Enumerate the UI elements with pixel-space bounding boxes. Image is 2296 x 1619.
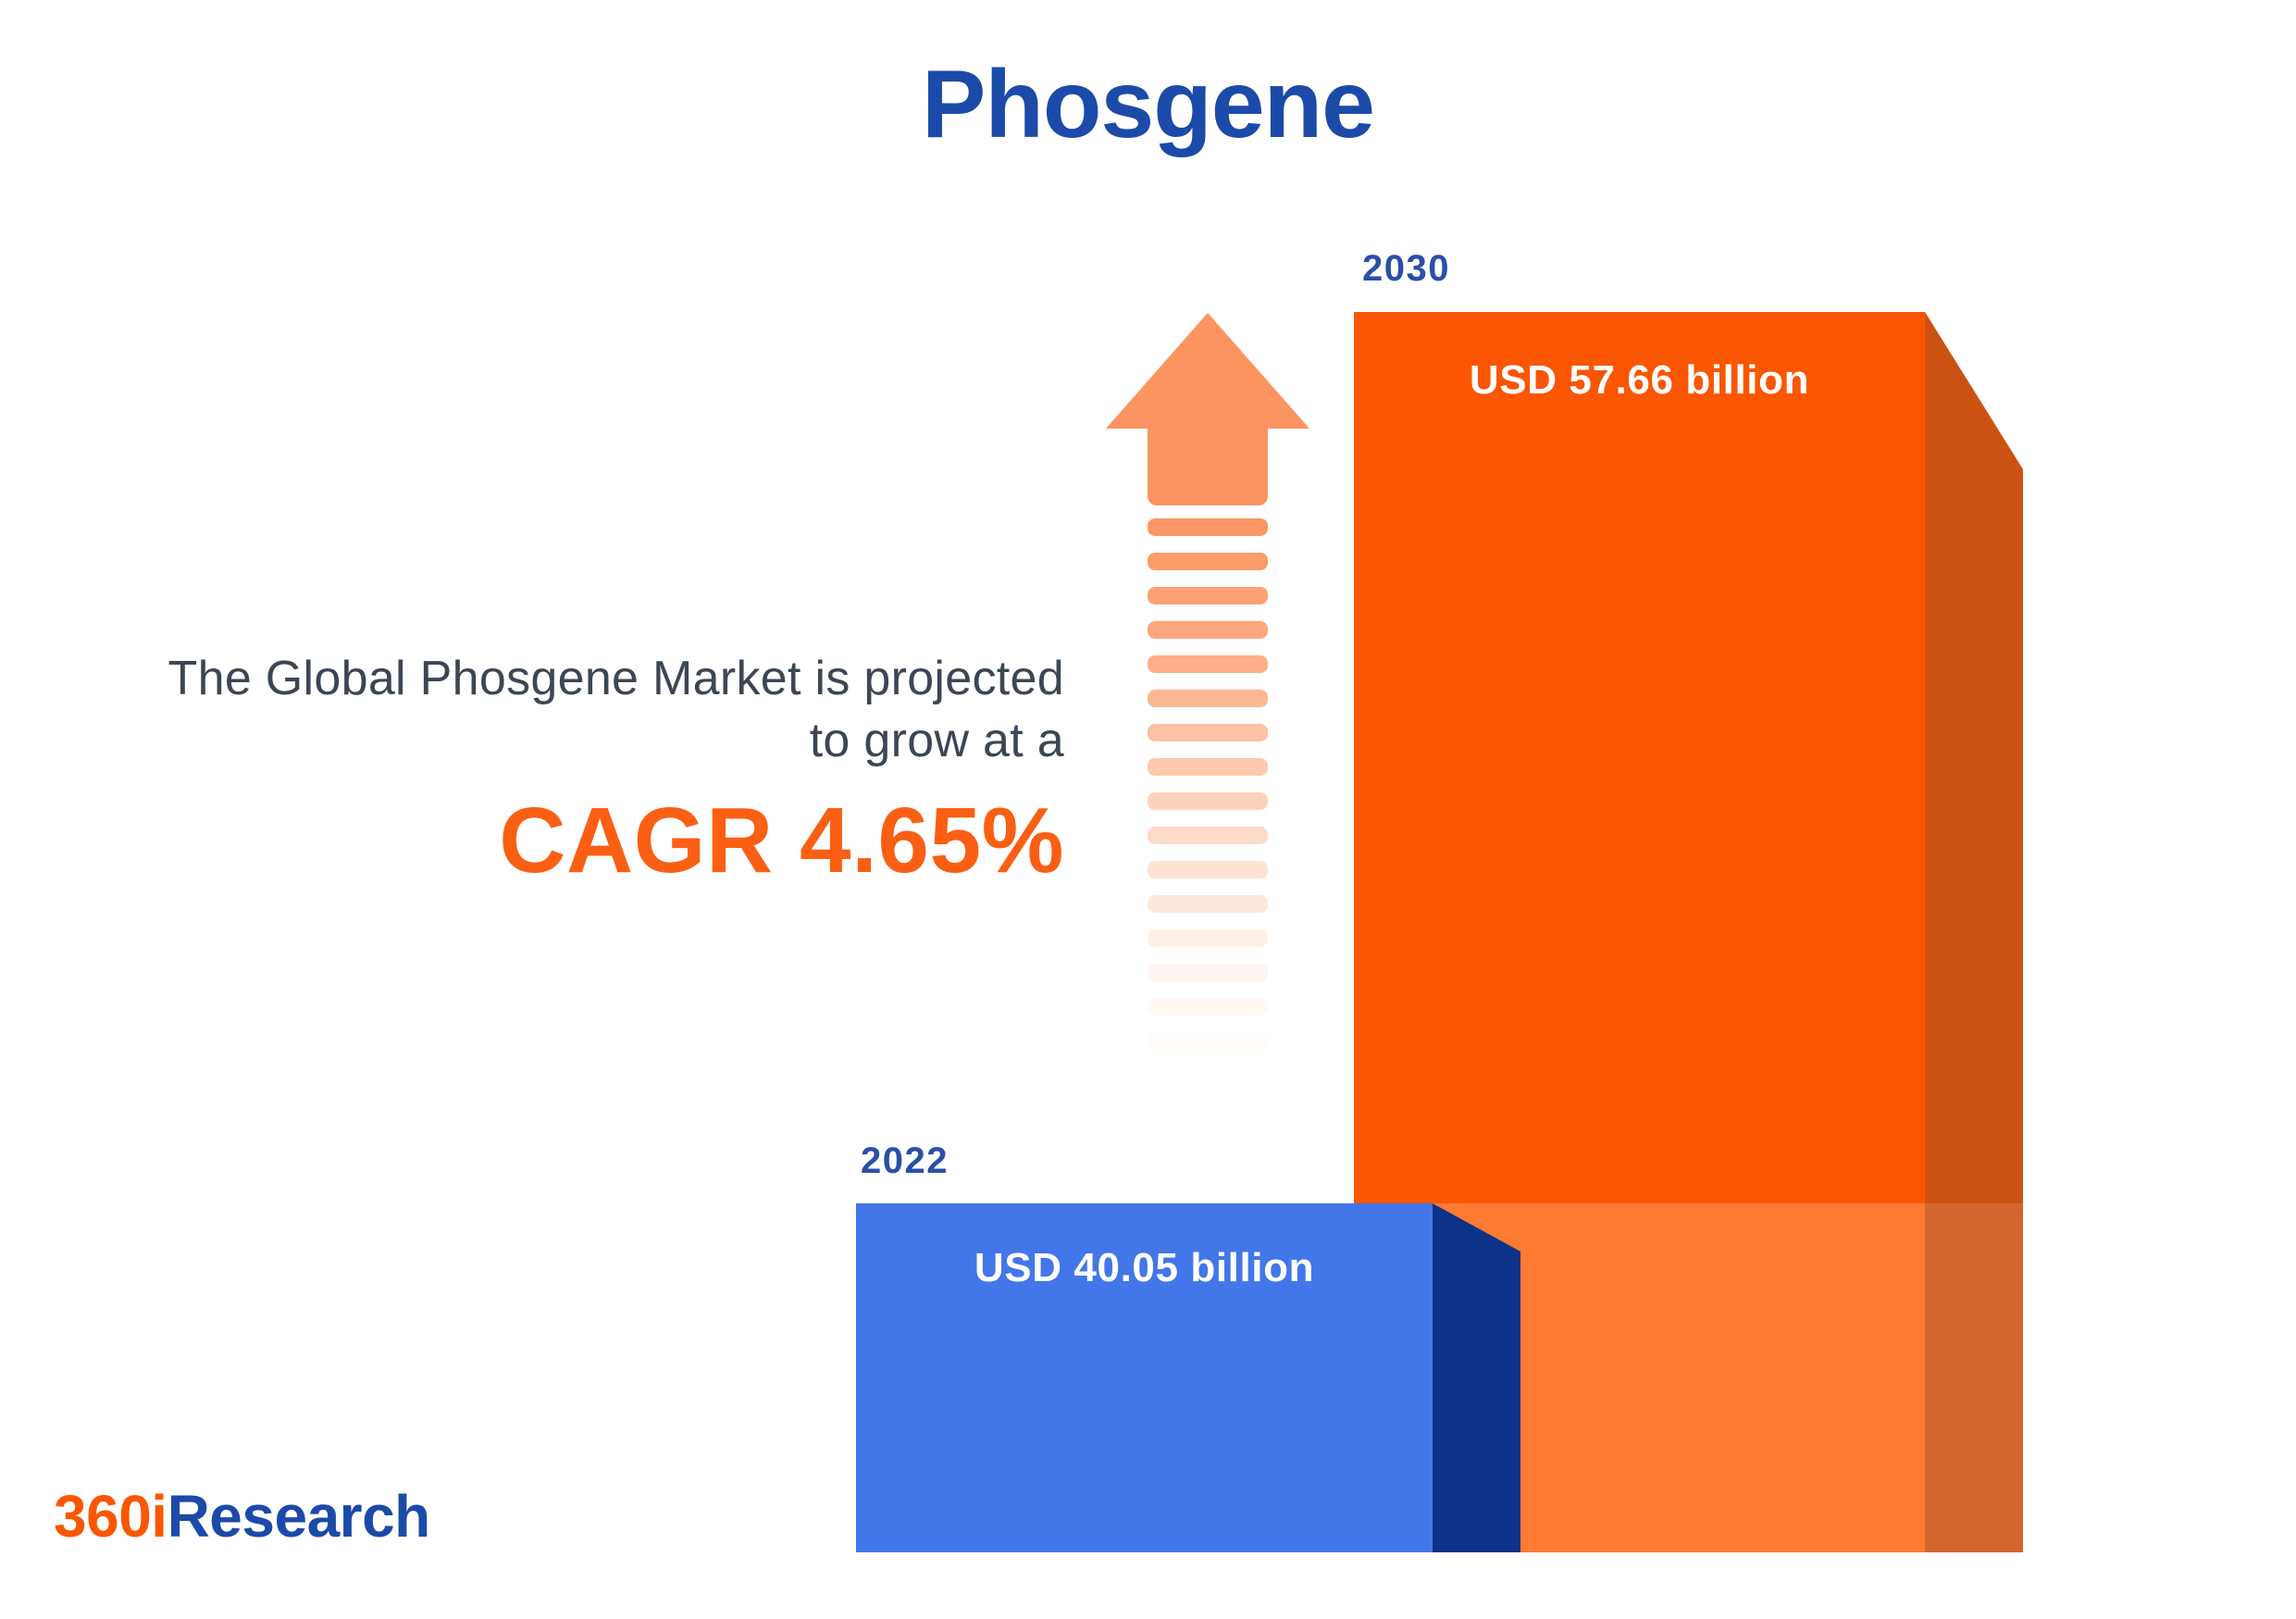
arrow-trail-bar [1148, 621, 1268, 639]
arrow-trail-bars [1148, 518, 1268, 1066]
infographic-canvas: Phosgene The Global Phosgene Market is p… [0, 0, 2296, 1619]
arrow-trail-bar [1148, 518, 1268, 536]
arrow-trail-bar [1148, 895, 1268, 913]
cagr-value: CAGR 4.65% [28, 790, 1064, 891]
arrow-trail-bar [1148, 964, 1268, 981]
bar-2022-side-face [1433, 1203, 1520, 1552]
arrow-head-shape [1106, 313, 1309, 429]
value-label-2022: USD 40.05 billion [856, 1245, 1433, 1291]
statement-line-1: The Global Phosgene Market is projected [28, 648, 1064, 710]
arrow-trail-bar [1148, 690, 1268, 707]
arrow-trail-bar [1148, 827, 1268, 844]
market-statement: The Global Phosgene Market is projected … [28, 648, 1064, 891]
arrow-trail-bar [1148, 929, 1268, 947]
arrow-trail-bar [1148, 655, 1268, 673]
brand-logo[interactable]: 360iResearch [54, 1482, 430, 1551]
arrow-trail-bar [1148, 998, 1268, 1015]
page-title: Phosgene [0, 52, 2296, 157]
arrow-trail-bar [1148, 587, 1268, 604]
arrow-trail-bar [1148, 758, 1268, 776]
year-label-2030: 2030 [1362, 248, 1450, 290]
arrow-trail-bar [1148, 553, 1268, 570]
arrow-trail-bar [1148, 861, 1268, 878]
arrow-trail-bar [1148, 724, 1268, 741]
up-arrow-icon [1106, 313, 1309, 1081]
logo-research-text: Research [168, 1483, 430, 1550]
statement-line-2: to grow at a [28, 710, 1064, 772]
year-label-2022: 2022 [861, 1140, 949, 1182]
arrow-trail-bar [1148, 1032, 1268, 1050]
bar-2030-base-side-face [1925, 1203, 2023, 1552]
arrow-neck-shape [1148, 427, 1268, 505]
value-label-2030: USD 57.66 billion [1354, 357, 1925, 404]
logo-360i-text: 360i [54, 1483, 168, 1550]
arrow-trail-bar [1148, 792, 1268, 810]
